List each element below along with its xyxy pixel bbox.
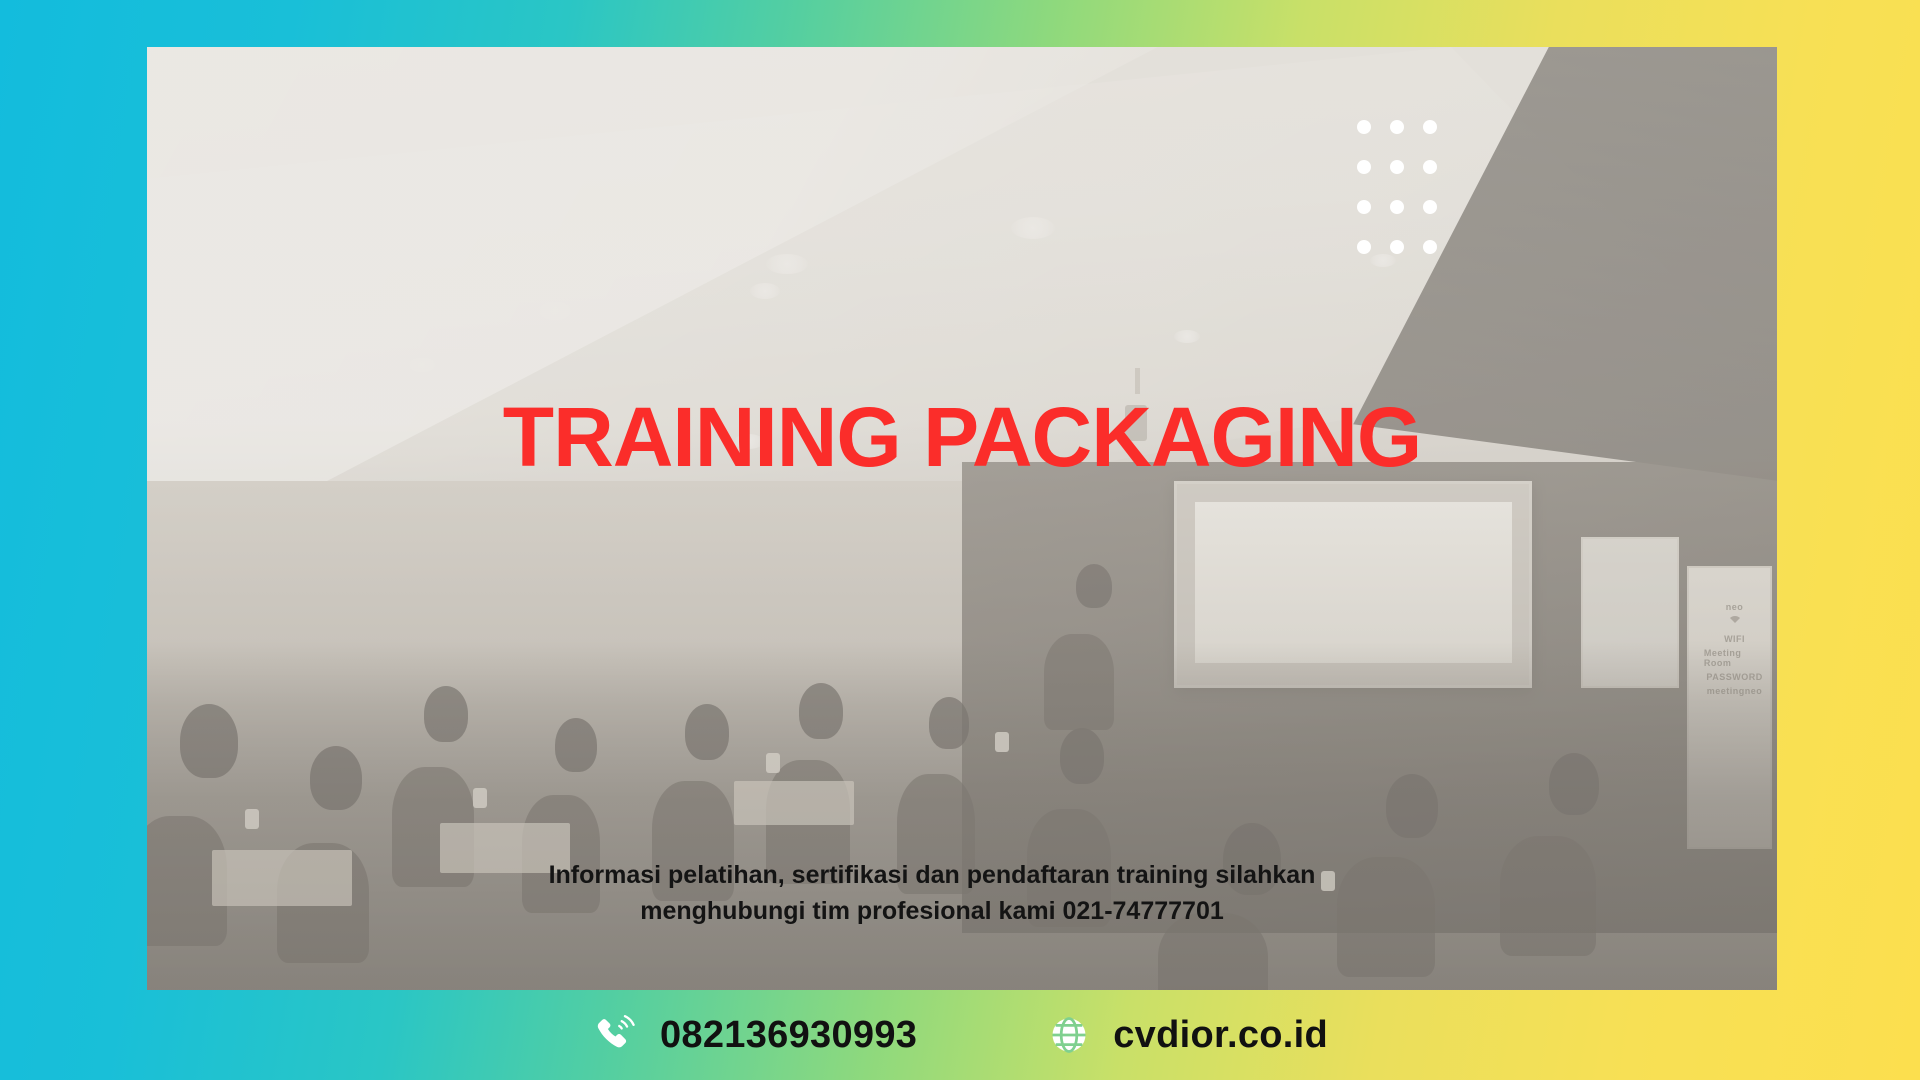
photo-fade-overlay: [147, 47, 1777, 990]
grid-dot: [1357, 200, 1371, 214]
page-title: TRAINING PACKAGING: [147, 395, 1777, 479]
grid-dot: [1390, 120, 1404, 134]
conference-room-photo: neo WIFI Meeting Room PASSWORD meetingne…: [147, 47, 1777, 990]
globe-icon: [1047, 1013, 1091, 1057]
grid-dot: [1390, 160, 1404, 174]
website-url: cvdior.co.id: [1113, 1014, 1328, 1057]
ringing-phone-icon: [592, 1012, 638, 1058]
grid-dot: [1390, 200, 1404, 214]
contact-bar: 082136930993 cvdior.co.id: [0, 990, 1920, 1080]
grid-dot: [1423, 240, 1437, 254]
grid-dot: [1390, 240, 1404, 254]
phone-number: 082136930993: [660, 1014, 917, 1057]
grid-dot: [1357, 240, 1371, 254]
decorative-dot-grid: [1347, 107, 1447, 267]
grid-dot: [1423, 160, 1437, 174]
description-line-1: Informasi pelatihan, sertifikasi dan pen…: [527, 857, 1337, 893]
phone-contact[interactable]: 082136930993: [592, 1012, 917, 1058]
website-contact[interactable]: cvdior.co.id: [1047, 1013, 1328, 1057]
grid-dot: [1423, 120, 1437, 134]
grid-dot: [1357, 120, 1371, 134]
description-line-2: menghubungi tim profesional kami 021-747…: [527, 893, 1337, 929]
description-text: Informasi pelatihan, sertifikasi dan pen…: [527, 857, 1337, 930]
grid-dot: [1357, 160, 1371, 174]
promo-banner: neo WIFI Meeting Room PASSWORD meetingne…: [0, 0, 1920, 1080]
grid-dot: [1423, 200, 1437, 214]
